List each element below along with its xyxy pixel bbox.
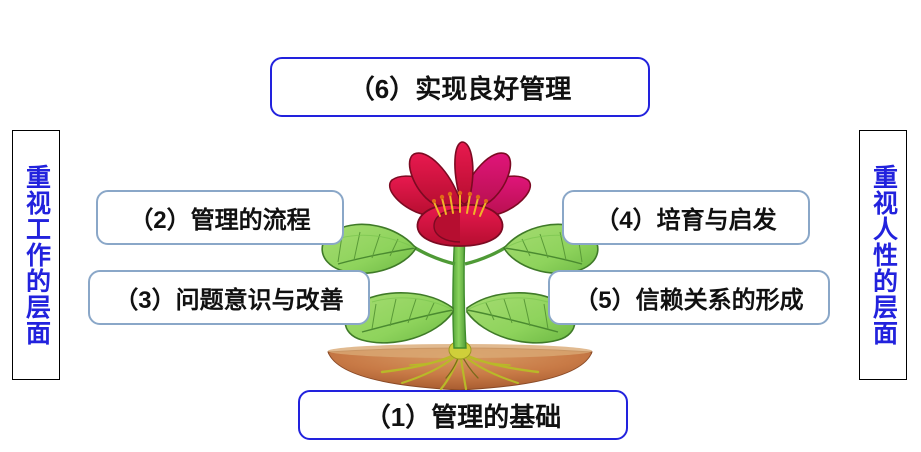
box-item-2-number: （2） (129, 200, 190, 235)
box-item-5-number: （5） (574, 280, 635, 315)
box-item-6-number: （6） (349, 69, 415, 106)
box-item-4-label: 培育与启发 (657, 200, 777, 235)
box-item-3[interactable]: （3） 问题意识与改善 (88, 270, 370, 325)
box-item-4[interactable]: （4） 培育与启发 (562, 190, 810, 245)
side-label-left: 重视工作的层面 (24, 164, 49, 346)
box-item-6[interactable]: （6） 实现良好管理 (270, 57, 650, 117)
box-item-3-label: 问题意识与改善 (176, 280, 344, 315)
box-item-2[interactable]: （2） 管理的流程 (96, 190, 344, 245)
side-panel-right: 重视人性的层面 (859, 130, 907, 380)
side-label-right: 重视人性的层面 (871, 164, 896, 346)
box-item-6-label: 实现良好管理 (415, 69, 571, 106)
flower-plant-illustration (310, 140, 610, 390)
box-item-3-number: （3） (114, 280, 175, 315)
box-item-1-label: 管理的基础 (431, 397, 561, 434)
slide-canvas: 重视工作的层面 重视人性的层面 （6） 实现良好管理 （2） 管理的流程 （3）… (0, 0, 921, 452)
box-item-4-number: （4） (595, 200, 656, 235)
side-panel-left: 重视工作的层面 (12, 130, 60, 380)
box-item-1[interactable]: （1） 管理的基础 (298, 390, 628, 440)
box-item-5-label: 信赖关系的形成 (636, 280, 804, 315)
box-item-5[interactable]: （5） 信赖关系的形成 (548, 270, 830, 325)
box-item-2-label: 管理的流程 (191, 200, 311, 235)
box-item-1-number: （1） (365, 397, 431, 434)
flower-head (390, 142, 531, 246)
